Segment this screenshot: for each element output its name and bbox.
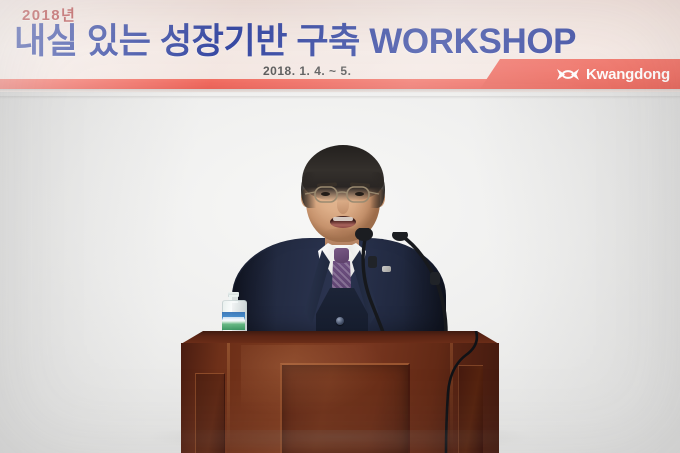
nose — [337, 196, 349, 214]
floor-shadow — [150, 430, 530, 453]
bottle-label-stripe — [223, 317, 244, 320]
teeth — [333, 217, 353, 221]
vest-button — [336, 317, 344, 325]
microphone-right-icon — [392, 232, 458, 340]
workshop-photo: 2018년 내실 있는 성장기반 구축 WORKSHOP 2018. 1. 4.… — [0, 0, 680, 453]
bottle-label — [222, 312, 245, 330]
necktie-knot — [334, 248, 349, 263]
